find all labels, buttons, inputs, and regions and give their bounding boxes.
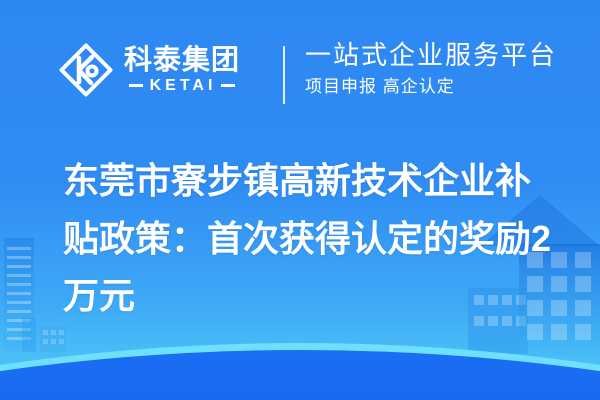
tagline-sub: 项目申报 高企认定: [305, 77, 557, 97]
brand-name-en-row: KETAI: [124, 77, 240, 95]
brand-name-en: KETAI: [150, 77, 217, 95]
brand-logo[interactable]: 科泰集团 KETAI: [58, 42, 240, 98]
ketai-diamond-k-logo-icon: [58, 42, 114, 98]
tagline-main: 一站式企业服务平台: [305, 40, 557, 71]
skyscraper-tall: [4, 238, 34, 350]
skyscraper-small: [22, 318, 66, 352]
logo-dash-left-icon: [129, 84, 143, 87]
header-divider: [283, 46, 285, 104]
promo-banner: 科泰集团 KETAI 一站式企业服务平台 项目申报 高企认定 东莞市寮步镇高新技…: [0, 0, 600, 400]
ground-arc: [0, 343, 600, 400]
brand-name-cn: 科泰集团: [124, 45, 240, 74]
tagline: 一站式企业服务平台 项目申报 高企认定: [305, 40, 557, 98]
page-title: 东莞市寮步镇高新技术企业补贴政策：首次获得认定的奖励2万元: [63, 152, 553, 325]
logo-dash-right-icon: [221, 84, 235, 87]
brand-logo-text: 科泰集团 KETAI: [124, 45, 240, 94]
banner-header: 科泰集团 KETAI 一站式企业服务平台 项目申报 高企认定: [0, 0, 600, 140]
